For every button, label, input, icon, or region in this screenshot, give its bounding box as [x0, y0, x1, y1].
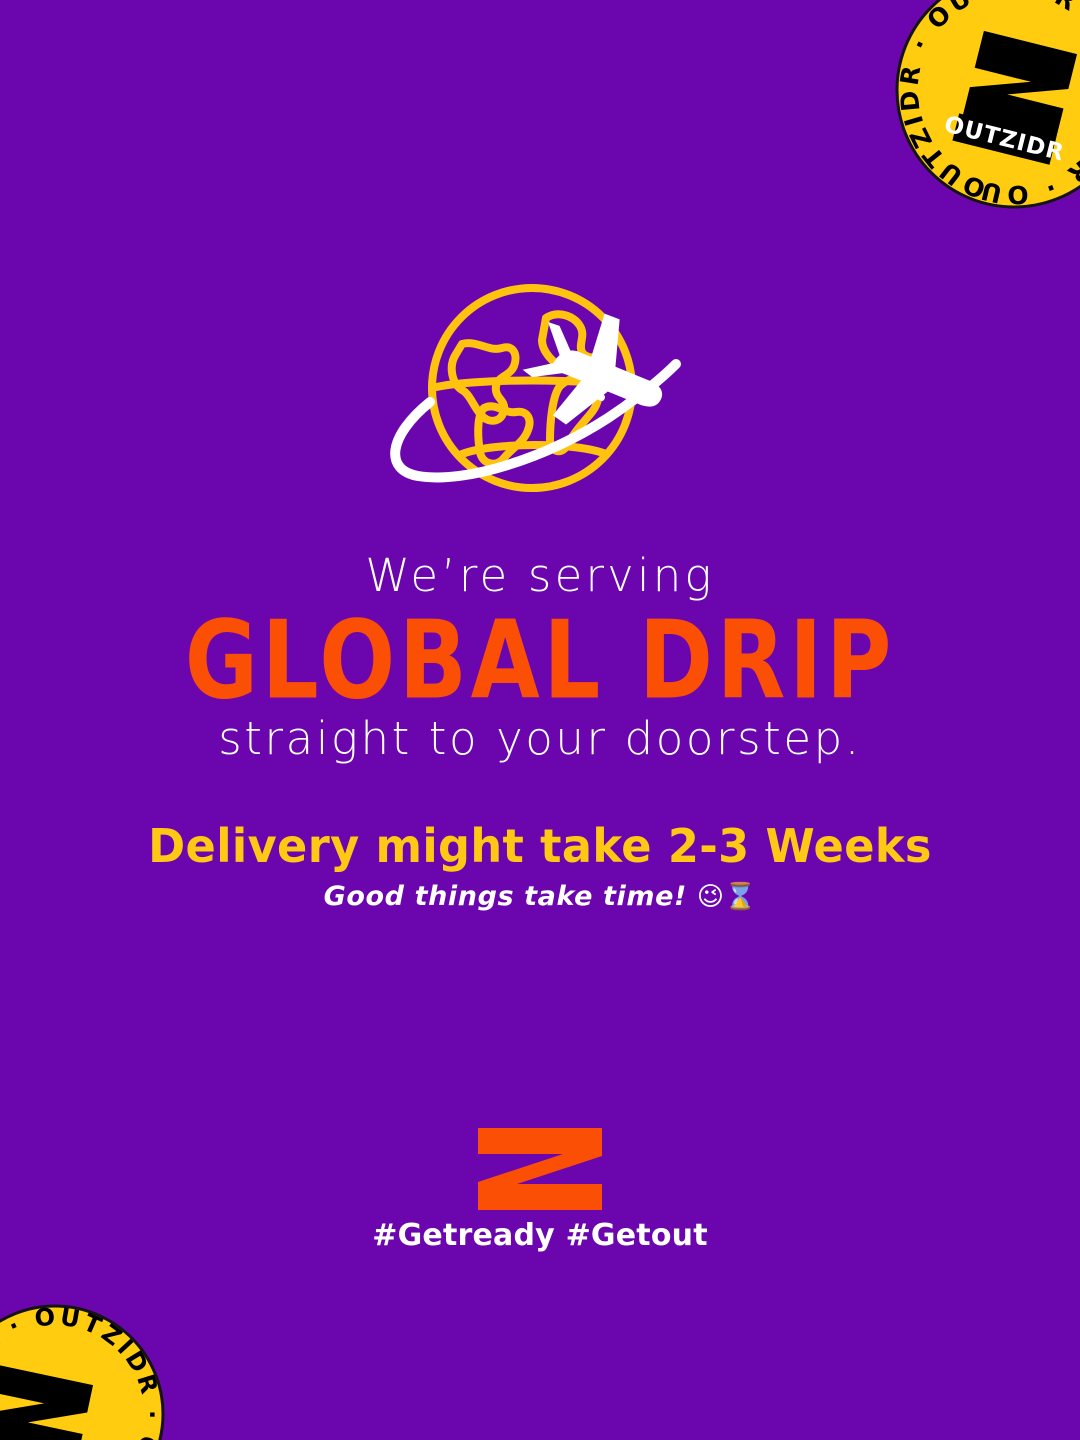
headline-subtitle: straight to your doorstep. [0, 714, 1080, 764]
globe-airplane-icon [370, 282, 710, 504]
page-title: GLOBAL DRIP [38, 607, 1042, 715]
headline-kicker: We’re serving [0, 552, 1080, 601]
outzidr-sticker-bottom-left: OUTZIDR · OUTZIDR · OUTZIDR · OUTZIDR · … [0, 1301, 168, 1440]
footer-hashtags: #Getready #Getout [0, 1218, 1080, 1253]
wink-hourglass-emoji: 😉⌛ [697, 882, 756, 912]
delivery-notice: Delivery might take 2-3 Weeks [16, 820, 1064, 873]
z-logo-mark [475, 1126, 605, 1212]
delivery-note-text: Good things take time! [324, 881, 687, 912]
delivery-note: Good things take time! 😉⌛ [0, 881, 1080, 913]
outzidr-sticker-top-right: OUTZIDR · OUTZIDR · OUTZIDR · OUTZIDR · … [892, 0, 1080, 212]
poster-canvas: OUTZIDR · OUTZIDR · OUTZIDR · OUTZIDR · … [0, 0, 1080, 1440]
